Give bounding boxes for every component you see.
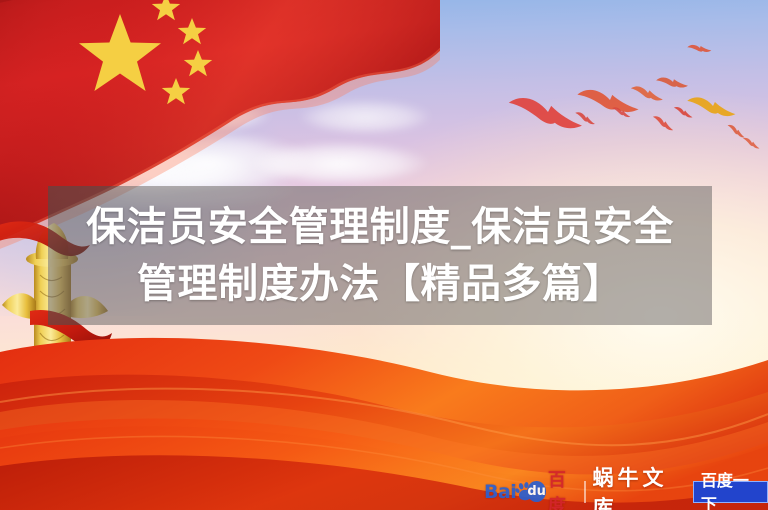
bird-icon (726, 124, 747, 137)
baidu-du-badge: du (527, 481, 546, 502)
baidu-bai-text: Bai (484, 481, 516, 503)
page-title: 保洁员安全管理制度_保洁员安全 管理制度办法【精品多篇】 (48, 186, 712, 325)
site-brand-label: 蜗牛文库 (593, 462, 687, 510)
bird-icon (651, 116, 675, 131)
baidu-search-button[interactable]: 百度一下 (693, 481, 768, 503)
bird-icon (577, 82, 639, 121)
title-line-1: 保洁员安全管理制度_保洁员安全 (86, 199, 674, 256)
baidu-chinese-text: 百度 (548, 466, 577, 510)
bird-icon (673, 107, 693, 118)
bird-icon (631, 85, 663, 103)
bird-icon (687, 92, 736, 121)
bird-icon (508, 92, 582, 134)
poster-canvas: 保洁员安全管理制度_保洁员安全 管理制度办法【精品多篇】 Bai du 百度 蜗… (0, 0, 768, 510)
watermark-divider (584, 481, 586, 503)
bird-icon (687, 40, 711, 57)
bird-icon (742, 137, 761, 148)
title-line-2: 管理制度办法【精品多篇】 (137, 256, 623, 313)
watermark-bar: Bai du 百度 蜗牛文库 百度一下 (484, 478, 768, 505)
bird-icon (574, 112, 596, 125)
bird-icon (656, 72, 688, 94)
baidu-logo[interactable]: Bai du 百度 (484, 478, 577, 505)
